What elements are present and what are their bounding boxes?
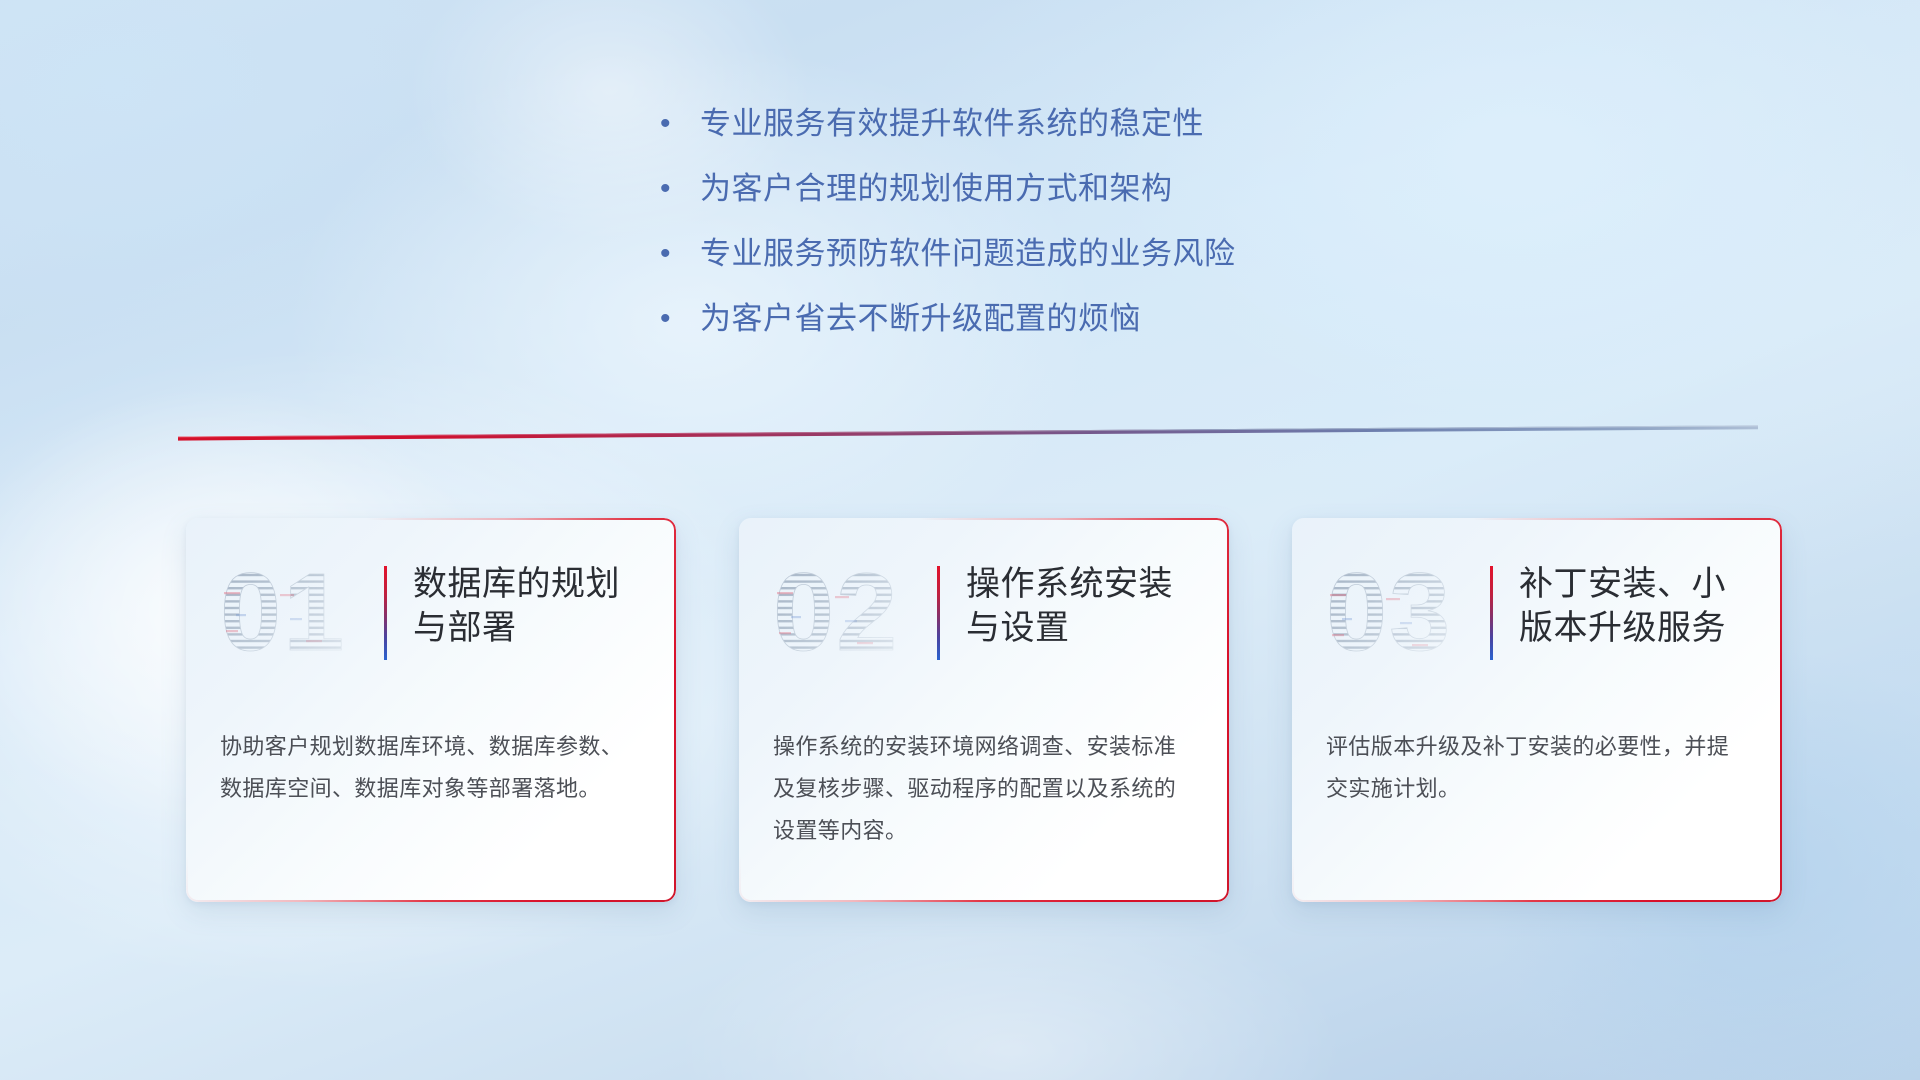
card-title: 补丁安装、小版本升级服务	[1519, 560, 1748, 650]
striped-numeral-icon: 01 01	[220, 554, 372, 672]
bullet-dot-icon: •	[660, 169, 700, 209]
bullet-text: 专业服务预防软件问题造成的业务风险	[700, 234, 1440, 275]
slide-canvas: • 专业服务有效提升软件系统的稳定性 • 为客户合理的规划使用方式和架构 • 专…	[0, 0, 1920, 1080]
section-divider	[178, 424, 1758, 442]
card-number-03: 03 03	[1326, 554, 1478, 672]
svg-text:03: 03	[1326, 554, 1452, 672]
bullet-dot-icon: •	[660, 234, 700, 274]
card-header: 02 02 操作系统安装与设置	[773, 560, 1195, 688]
card-description: 协助客户规划数据库环境、数据库参数、数据库空间、数据库对象等部署落地。	[220, 726, 642, 810]
card-number-02: 02 02	[773, 554, 925, 672]
card-title: 操作系统安装与设置	[966, 560, 1195, 650]
striped-numeral-icon: 03 03	[1326, 554, 1478, 672]
card-accent-rule	[1490, 566, 1493, 660]
card-description: 操作系统的安装环境网络调查、安装标准及复核步骤、驱动程序的配置以及系统的设置等内…	[773, 726, 1195, 851]
list-item: • 为客户合理的规划使用方式和架构	[660, 169, 1440, 210]
service-card[interactable]: 03 03 补丁安装、小版本升级服务	[1292, 518, 1782, 902]
list-item: • 为客户省去不断升级配置的烦恼	[660, 299, 1440, 340]
benefits-bullet-list: • 专业服务有效提升软件系统的稳定性 • 为客户合理的规划使用方式和架构 • 专…	[660, 104, 1440, 364]
svg-text:02: 02	[773, 554, 899, 672]
divider-shape-icon	[178, 424, 1758, 442]
card-header: 03 03 补丁安装、小版本升级服务	[1326, 560, 1748, 688]
card-title: 数据库的规划与部署	[413, 560, 642, 650]
bullet-dot-icon: •	[660, 299, 700, 339]
service-card[interactable]: 01 01 数据库的规划与部署	[186, 518, 676, 902]
card-number-01: 01 01	[220, 554, 372, 672]
service-card[interactable]: 02 02 操作系统安装与设置	[739, 518, 1229, 902]
bullet-text: 为客户省去不断升级配置的烦恼	[700, 299, 1440, 340]
list-item: • 专业服务预防软件问题造成的业务风险	[660, 234, 1440, 275]
striped-numeral-icon: 02 02	[773, 554, 925, 672]
card-description: 评估版本升级及补丁安装的必要性，并提交实施计划。	[1326, 726, 1748, 810]
bullet-text: 为客户合理的规划使用方式和架构	[700, 169, 1440, 210]
card-accent-rule	[937, 566, 940, 660]
card-accent-rule	[384, 566, 387, 660]
bullet-dot-icon: •	[660, 104, 700, 144]
bullet-text: 专业服务有效提升软件系统的稳定性	[700, 104, 1440, 145]
service-card-list: 01 01 数据库的规划与部署	[186, 518, 1782, 902]
card-header: 01 01 数据库的规划与部署	[220, 560, 642, 688]
list-item: • 专业服务有效提升软件系统的稳定性	[660, 104, 1440, 145]
svg-text:01: 01	[220, 554, 346, 672]
